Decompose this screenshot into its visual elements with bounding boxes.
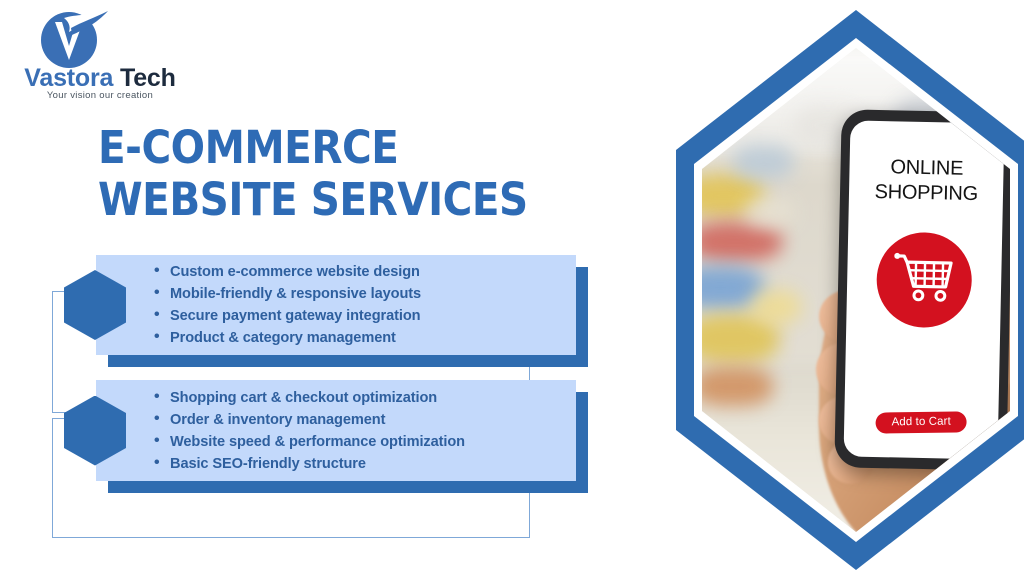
logo-tagline: Your vision our creation — [20, 90, 180, 101]
card-1-bullet-list: Custom e-commerce website design Mobile-… — [154, 255, 566, 355]
vastora-v-swoosh-logo-icon — [38, 8, 110, 70]
shelf-blob — [733, 145, 795, 179]
service-card-1: Custom e-commerce website design Mobile-… — [96, 255, 576, 355]
list-item: Custom e-commerce website design — [154, 261, 566, 283]
shelf-blob — [702, 367, 773, 406]
logo-word-secondary: Tech — [113, 64, 175, 92]
list-item: Product & category management — [154, 327, 566, 349]
screen-heading-line-2: SHOPPING — [849, 179, 1003, 207]
list-item: Shopping cart & checkout optimization — [154, 387, 566, 409]
screen-heading: ONLINE SHOPPING — [849, 154, 1003, 207]
list-item: Mobile-friendly & responsive layouts — [154, 283, 566, 305]
slide-canvas: Vastora Tech Your vision our creation E-… — [0, 0, 1024, 576]
shelf-blob — [751, 290, 800, 324]
logo-word-primary: Vastora — [24, 64, 113, 92]
brand-logo: Vastora Tech Your vision our creation — [20, 6, 180, 102]
card-2-bullet-list: Shopping cart & checkout optimization Or… — [154, 380, 566, 481]
shelf-blob — [702, 222, 782, 261]
list-item: Order & inventory management — [154, 409, 566, 431]
smartphone: ONLINE SHOPPING — [834, 109, 1010, 471]
list-item: Secure payment gateway integration — [154, 305, 566, 327]
shelf-blob — [745, 198, 794, 227]
page-title-line-2: WEBSITE SERVICES — [98, 174, 658, 226]
phone-screen: ONLINE SHOPPING — [844, 121, 1004, 459]
list-item: Website speed & performance optimization — [154, 431, 566, 453]
service-card-2: Shopping cart & checkout optimization Or… — [96, 380, 576, 481]
logo-wordmark: Vastora Tech — [20, 64, 180, 93]
shopping-cart-icon — [892, 251, 955, 309]
screen-heading-line-1: ONLINE — [849, 154, 1003, 182]
list-item: Basic SEO-friendly structure — [154, 453, 566, 475]
page-title: E-COMMERCE WEBSITE SERVICES — [98, 122, 658, 226]
page-title-line-1: E-COMMERCE — [98, 122, 658, 174]
shopping-cart-button[interactable] — [875, 231, 972, 328]
add-to-cart-button[interactable]: Add to Cart — [875, 411, 967, 433]
